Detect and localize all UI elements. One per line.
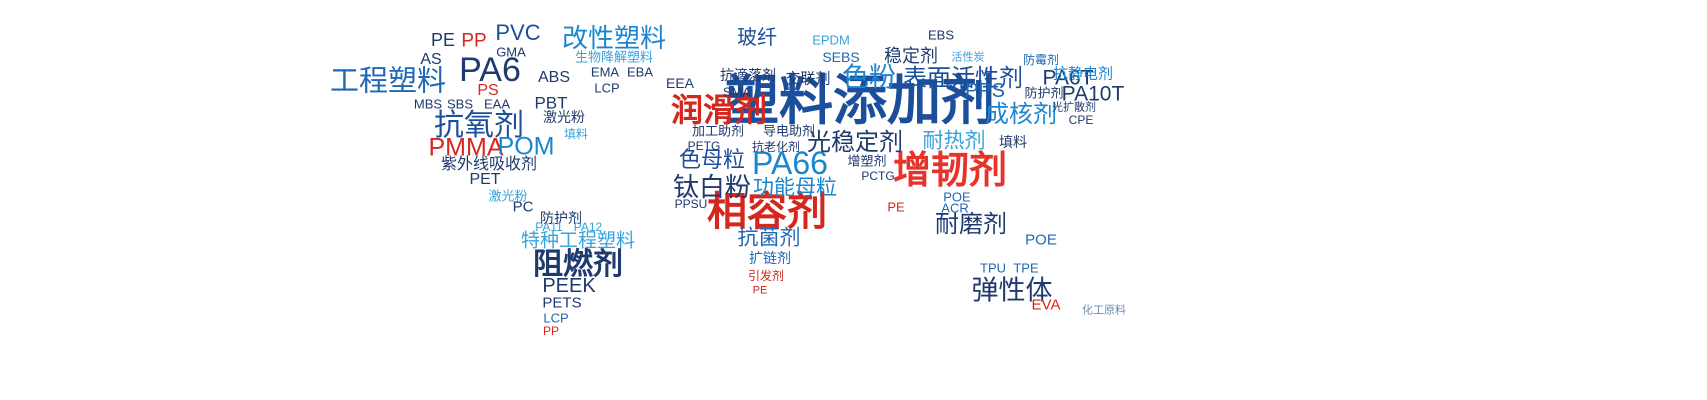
cloud-word[interactable]: PP (543, 325, 559, 337)
cloud-word[interactable]: 光稳定剂 (807, 131, 903, 155)
cloud-word[interactable]: 生物降解塑料 (575, 51, 653, 64)
cloud-word[interactable]: 防护剂 (1024, 87, 1063, 100)
cloud-word[interactable]: 润滑剂 (671, 94, 767, 126)
cloud-word[interactable]: POE (1025, 233, 1057, 248)
cloud-word[interactable]: PET (469, 172, 500, 188)
cloud-word[interactable]: PA12 (574, 221, 602, 233)
cloud-word[interactable]: EPDM (812, 34, 850, 47)
cloud-word[interactable]: 光扩散剂 (1052, 103, 1096, 114)
cloud-word[interactable]: EVA (1032, 298, 1061, 313)
cloud-word[interactable]: PPSU (675, 198, 708, 210)
cloud-word[interactable]: 增韧剂 (893, 152, 1007, 190)
cloud-word[interactable]: 抗老化剂 (752, 141, 800, 153)
cloud-word[interactable]: 交联剂 (785, 72, 830, 87)
cloud-word[interactable]: 特种工程塑料 (521, 232, 635, 251)
cloud-word[interactable]: 玻纤 (737, 28, 777, 48)
cloud-word[interactable]: 填料 (564, 128, 588, 140)
cloud-word[interactable]: PC (513, 200, 534, 215)
cloud-word[interactable]: 扩链剂 (749, 251, 791, 265)
cloud-word[interactable]: 防霉剂 (1023, 54, 1059, 66)
cloud-word[interactable]: SBS (447, 98, 473, 111)
cloud-word[interactable]: 化工原料 (1082, 306, 1126, 317)
cloud-word[interactable]: 抗静电剂 (1053, 67, 1113, 82)
cloud-word[interactable]: 改性塑料 (562, 25, 666, 51)
cloud-word[interactable]: 功能母粒 (753, 178, 837, 199)
cloud-word[interactable]: PE (753, 286, 768, 297)
cloud-word[interactable]: EBA (627, 66, 653, 79)
word-cloud: 塑料添加剂相容剂增韧剂润滑剂阻燃剂工程塑料抗氧剂PA6PA66改性塑料色粉表面活… (0, 0, 1707, 400)
cloud-word[interactable]: 活性炭 (952, 53, 985, 64)
cloud-word[interactable]: LCP (543, 312, 568, 325)
cloud-word[interactable]: ABS (538, 70, 570, 86)
cloud-word[interactable]: EBS (928, 29, 954, 42)
cloud-word[interactable]: GMA (496, 46, 526, 59)
cloud-word[interactable]: PETG (688, 140, 721, 152)
cloud-word[interactable]: TPE (1013, 262, 1038, 275)
cloud-word[interactable]: EEA (666, 76, 694, 90)
cloud-word[interactable]: PEEK (542, 276, 595, 296)
cloud-word[interactable]: PA11 (535, 221, 563, 233)
cloud-word[interactable]: 色粉 (842, 65, 896, 92)
cloud-word[interactable]: 稳定剂 (884, 47, 938, 65)
cloud-word[interactable]: SMA (723, 86, 751, 99)
cloud-word[interactable]: 增塑剂 (847, 155, 886, 168)
cloud-word[interactable]: ACR (941, 202, 968, 215)
cloud-word[interactable]: PP (461, 32, 486, 51)
cloud-word[interactable]: SEBS (822, 50, 859, 64)
cloud-word[interactable]: PVC (495, 22, 540, 44)
cloud-word[interactable]: 成核剂 (985, 103, 1057, 127)
cloud-word[interactable]: PPS (965, 81, 1005, 101)
cloud-word[interactable]: 加工助剂 (692, 125, 744, 138)
cloud-word[interactable]: TPU (980, 262, 1006, 275)
cloud-word[interactable]: 激光粉 (543, 110, 585, 124)
cloud-word[interactable]: 工程塑料 (330, 68, 446, 97)
cloud-word[interactable]: 引发剂 (748, 270, 784, 282)
cloud-word[interactable]: 抗菌剂 (738, 228, 801, 249)
cloud-word[interactable]: PCTG (861, 170, 894, 182)
cloud-word[interactable]: 填料 (999, 135, 1027, 149)
cloud-word[interactable]: LCP (594, 82, 619, 95)
cloud-word[interactable]: PETS (542, 296, 581, 311)
cloud-word[interactable]: AS (420, 52, 441, 68)
cloud-word[interactable]: PE (431, 31, 455, 49)
cloud-word[interactable]: EMA (591, 66, 619, 79)
cloud-word[interactable]: EAA (484, 98, 510, 111)
cloud-word[interactable]: 导电助剂 (763, 125, 815, 138)
cloud-word[interactable]: CPE (1069, 114, 1094, 126)
cloud-word[interactable]: 耐热剂 (923, 131, 986, 152)
cloud-word[interactable]: MBS (414, 98, 442, 111)
cloud-word[interactable]: 耐磨剂 (935, 213, 1007, 237)
cloud-word[interactable]: 抗滴落剂 (720, 68, 776, 82)
cloud-word[interactable]: PE (887, 201, 904, 214)
